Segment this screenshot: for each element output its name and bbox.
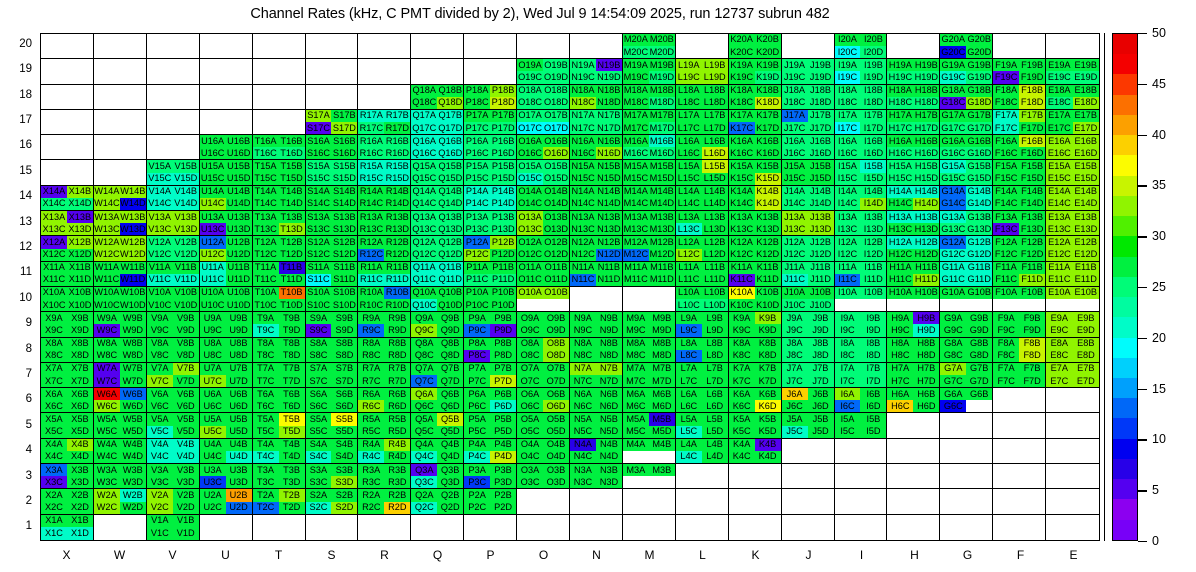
channel-T3B: T3B [279,464,305,476]
channel-N19D: N19D [596,71,622,83]
channel-V17C [147,122,173,134]
heatmap-cell: I7AI7BI7CI7D [835,363,888,388]
channel-I19B: I19B [860,59,886,71]
heatmap-cell: O19AO19BO19CO19D [517,59,570,84]
channel-G16C: G16C [940,147,966,159]
channel-V5A: V5A [147,413,173,425]
channel-V1B: V1B [173,515,199,528]
channel-N9B: N9B [596,312,622,324]
channel-J12A: J12A [782,236,808,248]
channel-W10A: W10A [94,287,120,299]
channel-W20D [120,46,146,58]
channel-J14A: J14A [782,186,808,198]
heatmap-cell [1046,439,1099,464]
heatmap-cell: V14AV14BV14CV14D [147,186,200,211]
channel-Q19C [411,71,437,83]
channel-J14C: J14C [782,198,808,210]
channel-G13D: G13D [966,223,992,235]
channel-U16C: U16C [200,147,226,159]
channel-F8B: F8B [1019,338,1045,350]
channel-W3D: W3D [120,476,146,488]
channel-H11D: H11D [913,274,939,286]
channel-H15D: H15D [913,173,939,185]
heatmap-cell: L5AL5BL5CL5D [676,413,729,438]
channel-Q7A: Q7A [411,363,437,375]
channel-U1B [226,515,252,528]
y-axis-label: 2 [6,495,32,507]
channel-Q16B: Q16B [437,135,463,147]
channel-W6D: W6D [120,400,146,412]
channel-Q15A: Q15A [411,160,437,172]
channel-V15A: V15A [147,160,173,172]
channel-G19A: G19A [940,59,966,71]
channel-N6C: N6C [570,400,596,412]
heatmap-cell [464,59,517,84]
channel-R3D: R3D [384,476,410,488]
channel-M6C: M6C [623,400,649,412]
channel-W7A: W7A [94,363,120,375]
channel-G3B [966,464,992,476]
channel-U20B [226,34,252,46]
channel-V16A [147,135,173,147]
channel-X2D: X2D [67,502,93,514]
channel-O18C: O18C [517,97,543,109]
channel-M12C: M12C [623,249,649,261]
channel-O17D: O17D [543,122,569,134]
channel-Q2C: Q2C [411,502,437,514]
channel-E19D: E19D [1073,71,1099,83]
channel-R8B: R8B [384,338,410,350]
channel-K15B: K15B [755,160,781,172]
heatmap-cell: E12AE12BE12CE12D [1046,236,1099,261]
channel-R10A: R10A [358,287,384,299]
channel-M6B: M6B [649,388,675,400]
channel-K4C: K4C [729,451,755,463]
channel-M13C: M13C [623,223,649,235]
colorbar-tick [1138,389,1147,390]
channel-I3A [835,464,861,476]
heatmap-cell: I10AI10B [835,287,888,312]
channel-H9A: H9A [887,312,913,324]
channel-O8B: O8B [543,338,569,350]
channel-I15A: I15A [835,160,861,172]
channel-V6C: V6C [147,400,173,412]
channel-V16B [173,135,199,147]
channel-F1A [993,515,1019,528]
heatmap-cell: E8AE8BE8CE8D [1046,338,1099,363]
channel-S19D [331,71,357,83]
channel-V9D: V9D [173,324,199,336]
heatmap-cell: F7AF7BF7CF7D [993,363,1046,388]
colorbar-tick [1138,287,1147,288]
channel-K7D: K7D [755,375,781,387]
heatmap-cell [887,439,940,464]
channel-M3C [623,476,649,488]
heatmap-cell: K5AK5BK5CK5D [729,413,782,438]
channel-E3D [1073,476,1099,488]
heatmap-cell: Q5AQ5BQ5CQ5D [411,413,464,438]
channel-T20A [253,34,279,46]
channel-U14A: U14A [200,186,226,198]
channel-Q1D [437,527,463,540]
channel-T17B [279,110,305,122]
channel-P7C: P7C [464,375,490,387]
channel-J13C: J13C [782,223,808,235]
channel-L10A: L10A [676,287,702,299]
channel-T14D: T14D [279,198,305,210]
channel-J11B: J11B [808,262,834,274]
channel-V2D: V2D [173,502,199,514]
channel-K9C: K9C [729,324,755,336]
channel-T14B: T14B [279,186,305,198]
channel-R9C: R9C [358,324,384,336]
channel-Q8C: Q8C [411,350,437,362]
channel-G16B: G16B [966,135,992,147]
channel-E8A: E8A [1046,338,1072,350]
heatmap-cell: S12AS12BS12CS12D [306,236,359,261]
channel-P20C [464,46,490,58]
channel-F10A: F10A [993,287,1019,299]
channel-R2D: R2D [384,502,410,514]
channel-R15C: R15C [358,173,384,185]
channel-P14A: P14A [464,186,490,198]
channel-W14B: W14B [120,186,146,198]
heatmap-cell: K19AK19BK19CK19D [729,59,782,84]
channel-I12D: I12D [860,249,886,261]
channel-H2B [913,489,939,501]
channel-V5C: V5C [147,426,173,438]
heatmap-cell: M7AM7BM7CM7D [623,363,676,388]
channel-S15D: S15D [331,173,357,185]
channel-G19B: G19B [966,59,992,71]
channel-X7B: X7B [67,363,93,375]
channel-M10A [623,287,649,299]
channel-V8C: V8C [147,350,173,362]
channel-Q1B [437,515,463,528]
channel-N11C: N11C [570,274,596,286]
channel-L17A: L17A [676,110,702,122]
channel-V10A: V10A [147,287,173,299]
channel-X11B: X11B [67,262,93,274]
heatmap-cell: T3AT3BT3CT3D [253,464,306,489]
heatmap-cell: U11AU11BU11CU11D [200,262,253,287]
channel-F19D: F19D [1019,71,1045,83]
channel-M2D [649,502,675,514]
colorbar-tick-label: 30 [1152,229,1166,243]
channel-I11D: I11D [860,274,886,286]
heatmap-cell: F12AF12BF12CF12D [993,236,1046,261]
channel-S3B: S3B [331,464,357,476]
channel-E17B: E17B [1073,110,1099,122]
heatmap-cell [41,135,94,160]
channel-H18B: H18B [913,85,939,97]
channel-J18A: J18A [782,85,808,97]
heatmap-cell: X1AX1BX1CX1D [41,515,94,540]
heatmap-cell: L16AL16BL16CL16D [676,135,729,160]
channel-V18D [173,97,199,109]
heatmap-cell [940,439,993,464]
channel-V9C: V9C [147,324,173,336]
channel-G16D: G16D [966,147,992,159]
channel-R1A [358,515,384,528]
channel-T18C [253,97,279,109]
channel-L18A: L18A [676,85,702,97]
heatmap-cell: J14AJ14BJ14CJ14D [782,186,835,211]
channel-L20A [676,34,702,46]
channel-Q9D: Q9D [437,324,463,336]
channel-E2A [1046,489,1072,501]
channel-P9C: P9C [464,324,490,336]
heatmap-cell: E19AE19BE19CE19D [1046,59,1099,84]
channel-G14C: G14C [940,198,966,210]
channel-H6D: H6D [913,400,939,412]
channel-G17D: G17D [966,122,992,134]
colorbar-tick [1138,236,1147,237]
channel-K6D: K6D [755,400,781,412]
channel-V10C: V10C [147,299,173,311]
channel-O18A: O18A [517,85,543,97]
channel-H12A: H12A [887,236,913,248]
channel-P1B [490,515,516,528]
channel-H14B: H14B [913,186,939,198]
channel-J17C: J17C [782,122,808,134]
channel-R19B [384,59,410,71]
channel-X19D [67,71,93,83]
channel-I14A: I14A [835,186,861,198]
channel-W19B [120,59,146,71]
channel-Q18B: Q18B [437,85,463,97]
heatmap-cell: K15AK15BK15CK15D [729,160,782,185]
channel-P1D [490,527,516,540]
channel-X6A: X6A [41,388,67,400]
heatmap-cell: W8AW8BW8CW8D [94,338,147,363]
channel-J6D: J6D [808,400,834,412]
channel-I4A [835,439,861,451]
channel-O1C [517,527,543,540]
heatmap-cell: N19AN19BN19CN19D [570,59,623,84]
channel-T4A: T4A [253,439,279,451]
x-axis-label: O [517,548,570,562]
heatmap-cell: O7AO7BO7CO7D [517,363,570,388]
channel-K16D: K16D [755,147,781,159]
channel-K8B: K8B [755,338,781,350]
channel-K4B: K4B [755,439,781,451]
channel-I12A: I12A [835,236,861,248]
channel-O3A: O3A [517,464,543,476]
heatmap-cell [887,413,940,438]
channel-S16A: S16A [306,135,332,147]
channel-E18D: E18D [1073,97,1099,109]
channel-N8C: N8C [570,350,596,362]
channel-X14B: X14B [67,186,93,198]
channel-I8C: I8C [835,350,861,362]
heatmap-cell: S17AS17BS17CS17D [306,110,359,135]
channel-E11A: E11A [1046,262,1072,274]
channel-T12B: T12B [279,236,305,248]
channel-L2B [702,489,728,501]
channel-I20A: I20A [835,34,861,46]
channel-E7B: E7B [1073,363,1099,375]
channel-V16D [173,147,199,159]
heatmap-cell [623,489,676,514]
x-axis-label: X [40,548,93,562]
channel-S12C: S12C [306,249,332,261]
channel-W19C [94,71,120,83]
channel-F10B: F10B [1019,287,1045,299]
channel-J3C [782,476,808,488]
heatmap-cell: P15AP15BP15CP15D [464,160,517,185]
channel-H8D: H8D [913,350,939,362]
channel-U4A: U4A [200,439,226,451]
channel-O20B [543,34,569,46]
colorbar-tick [1138,541,1147,542]
channel-M17B: M17B [649,110,675,122]
colorbar-tick-label: 15 [1152,382,1166,396]
channel-W13C: W13C [94,223,120,235]
channel-V1C: V1C [147,527,173,540]
heatmap-cell [782,439,835,464]
y-axis-label: 19 [6,63,32,75]
channel-O7C: O7C [517,375,543,387]
channel-N16C: N16C [570,147,596,159]
channel-N1D [596,527,622,540]
channel-T2B: T2B [279,489,305,501]
channel-T19B [279,59,305,71]
channel-J13A: J13A [782,211,808,223]
channel-P2C: P2C [464,502,490,514]
channel-K16B: K16B [755,135,781,147]
channel-E6C [1046,400,1072,412]
channel-G14D: G14D [966,198,992,210]
heatmap-cell: R14AR14BR14CR14D [358,186,411,211]
channel-N3B: N3B [596,464,622,476]
channel-K1A [729,515,755,528]
channel-F19A: F19A [993,59,1019,71]
channel-X8D: X8D [67,350,93,362]
channel-N20B [596,34,622,46]
heatmap-cell [835,489,888,514]
channel-F13A: F13A [993,211,1019,223]
heatmap-cell: T9AT9BT9CT9D [253,312,306,337]
y-axis-label: 6 [6,393,32,405]
channel-T5B: T5B [279,413,305,425]
channel-O9B: O9B [543,312,569,324]
channel-I5B: I5B [860,413,886,425]
channel-E13D: E13D [1073,223,1099,235]
channel-M1C [623,527,649,540]
channel-I15D: I15D [860,173,886,185]
heatmap-cell: T7AT7BT7CT7D [253,363,306,388]
channel-E19B: E19B [1073,59,1099,71]
heatmap-cell [782,34,835,59]
heatmap-cell [147,110,200,135]
channel-L19A: L19A [676,59,702,71]
channel-S8A: S8A [306,338,332,350]
channel-U20D [226,46,252,58]
channel-U10D: U10D [226,299,252,311]
channel-U6A: U6A [200,388,226,400]
channel-N19B: N19B [596,59,622,71]
heatmap-cell: H12AH12BH12CH12D [887,236,940,261]
heatmap-cell: F15AF15BF15CF15D [993,160,1046,185]
channel-W17A [94,110,120,122]
channel-Q4B: Q4B [437,439,463,451]
heatmap-cell: G8AG8BG8CG8D [940,338,993,363]
heatmap-cell: Q2AQ2BQ2CQ2D [411,489,464,514]
channel-U5B: U5B [226,413,252,425]
channel-W12A: W12A [94,236,120,248]
heatmap-cell [993,515,1046,540]
channel-T1C [253,527,279,540]
channel-U20C [200,46,226,58]
channel-O1B [543,515,569,528]
channel-F12B: F12B [1019,236,1045,248]
channel-W8C: W8C [94,350,120,362]
x-axis-label: E [1047,548,1100,562]
heatmap-cell: K17AK17BK17CK17D [729,110,782,135]
channel-E15C: E15C [1046,173,1072,185]
channel-O9D: O9D [543,324,569,336]
heatmap-cell: M9AM9BM9CM9D [623,312,676,337]
channel-X9A: X9A [41,312,67,324]
channel-F4B [1019,439,1045,451]
channel-U6C: U6C [200,400,226,412]
heatmap-cell [147,59,200,84]
channel-F18B: F18B [1019,85,1045,97]
heatmap-cell: H17AH17BH17CH17D [887,110,940,135]
channel-K14C: K14C [729,198,755,210]
channel-Q20A [411,34,437,46]
channel-Q7C: Q7C [411,375,437,387]
channel-M1A [623,515,649,528]
channel-L8B: L8B [702,338,728,350]
heatmap-cell: T6AT6BT6CT6D [253,388,306,413]
heatmap-cell: V6AV6BV6CV6D [147,388,200,413]
channel-J15D: J15D [808,173,834,185]
channel-O20C [517,46,543,58]
channel-P2D: P2D [490,502,516,514]
channel-V6D: V6D [173,400,199,412]
channel-V7B: V7B [173,363,199,375]
channel-G15D: G15D [966,173,992,185]
channel-N4A: N4A [570,439,596,451]
channel-R20C [358,46,384,58]
channel-T7D: T7D [279,375,305,387]
channel-K19A: K19A [729,59,755,71]
channel-O15A: O15A [517,160,543,172]
channel-L5D: L5D [702,426,728,438]
heatmap-cell: J13AJ13BJ13CJ13D [782,211,835,236]
channel-J7A: J7A [782,363,808,375]
channel-W12B: W12B [120,236,146,248]
channel-J16D: J16D [808,147,834,159]
channel-T4D: T4D [279,451,305,463]
channel-Q3B: Q3B [437,464,463,476]
channel-V7D: V7D [173,375,199,387]
heatmap-cell [411,515,464,540]
channel-E1B [1073,515,1099,528]
channel-G8D: G8D [966,350,992,362]
channel-S13D: S13D [331,223,357,235]
channel-V13D: V13D [173,223,199,235]
channel-L7B: L7B [702,363,728,375]
channel-X3D: X3D [67,476,93,488]
channel-H7A: H7A [887,363,913,375]
channel-L5B: L5B [702,413,728,425]
heatmap-cell [306,59,359,84]
channel-L1C [676,527,702,540]
channel-P9B: P9B [490,312,516,324]
